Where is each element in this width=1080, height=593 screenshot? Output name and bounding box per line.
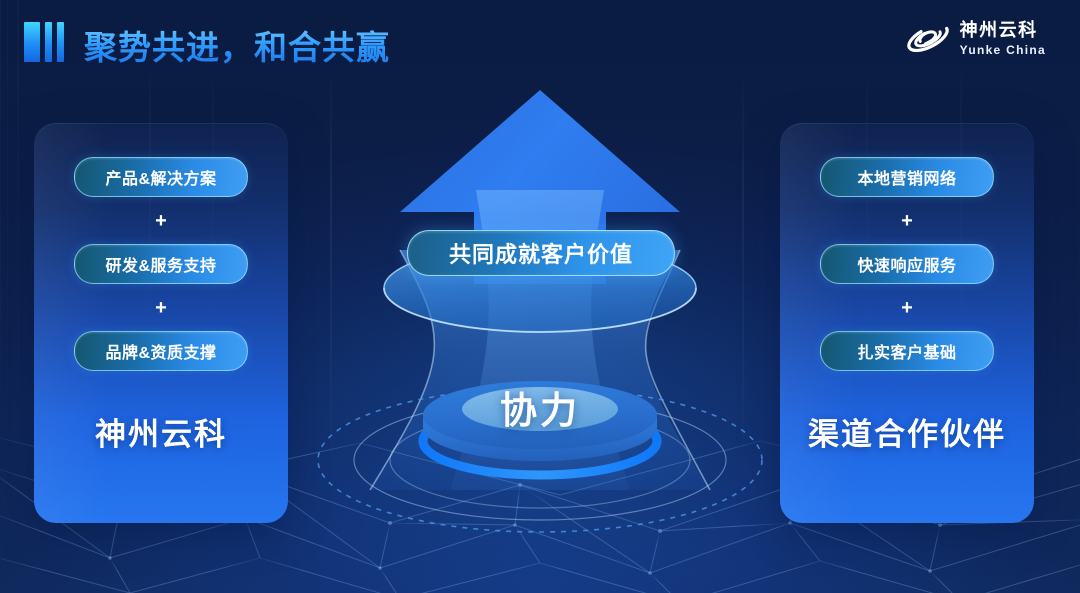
right-panel-caption: 渠道合作伙伴 xyxy=(780,409,1034,454)
left-separator-1: + xyxy=(155,211,167,231)
brand-logo: 神州云科 Yunke China xyxy=(905,18,1046,58)
right-separator-2: + xyxy=(901,298,913,318)
right-item-1[interactable]: 本地营销网络 xyxy=(820,157,994,197)
center-banner-pill[interactable]: 共同成就客户价值 xyxy=(407,230,675,276)
right-pillar-panel: 本地营销网络 + 快速响应服务 + 扎实客户基础 渠道合作伙伴 xyxy=(780,123,1034,523)
left-pillar-panel: 产品&解决方案 + 研发&服务支持 + 品牌&资质支撑 神州云科 xyxy=(34,123,288,523)
center-composition: 共同成就客户价值 xyxy=(300,70,780,540)
left-item-2[interactable]: 研发&服务支持 xyxy=(74,244,248,284)
left-separator-2: + xyxy=(155,298,167,318)
logo-name-en: Yunke China xyxy=(960,44,1046,56)
right-item-3[interactable]: 扎实客户基础 xyxy=(820,331,994,371)
center-word: 协力 xyxy=(300,380,780,434)
left-item-3[interactable]: 品牌&资质支撑 xyxy=(74,331,248,371)
slide-canvas: 聚势共进，和合共赢 神州云科 Yunke China 产品&解决方案 + 研发&… xyxy=(0,0,1080,593)
swirl-galaxy-logo-icon xyxy=(905,18,951,58)
logo-name-cn: 神州云科 xyxy=(960,21,1046,39)
right-separator-1: + xyxy=(901,211,913,231)
left-panel-caption: 神州云科 xyxy=(34,409,288,454)
three-bars-icon xyxy=(24,22,64,62)
right-item-2[interactable]: 快速响应服务 xyxy=(820,244,994,284)
page-title: 聚势共进，和合共赢 xyxy=(84,21,390,69)
left-item-1[interactable]: 产品&解决方案 xyxy=(74,157,248,197)
